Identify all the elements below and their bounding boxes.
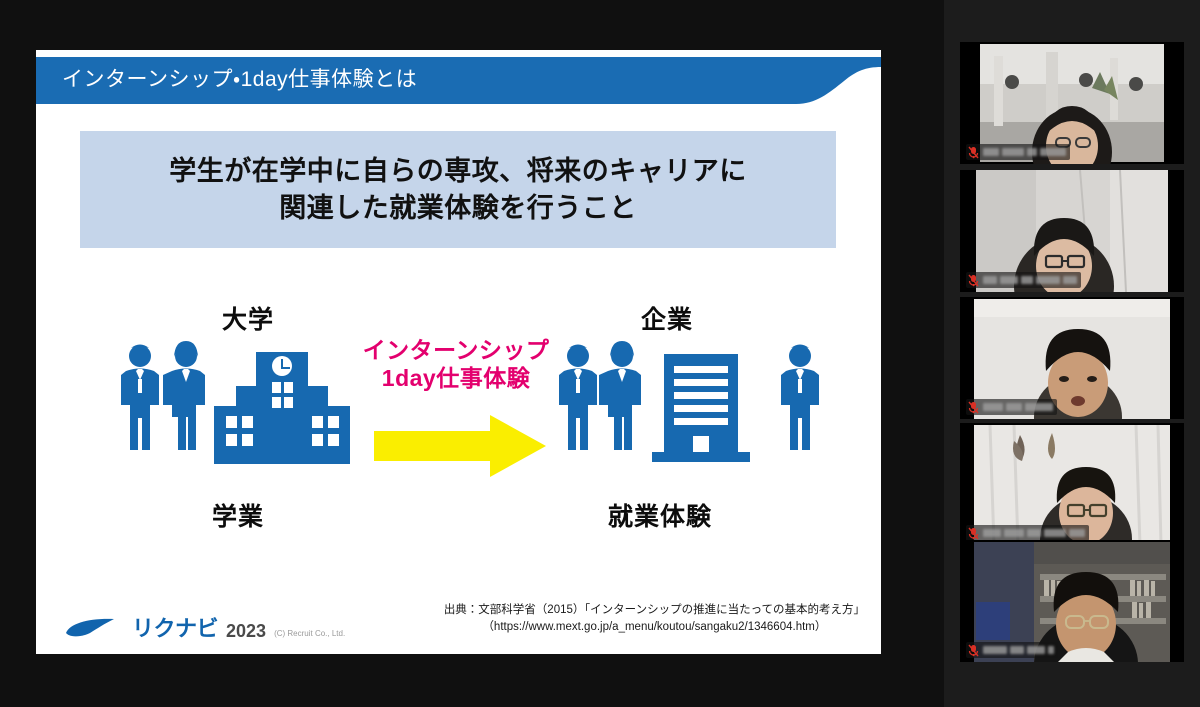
logo-year: 2023 bbox=[226, 622, 266, 640]
definition-text: 学生が在学中に自らの専攻、将来のキャリアに 関連した就業体験を行うこと bbox=[169, 153, 747, 225]
participant-tile-4[interactable] bbox=[960, 423, 1184, 545]
rikunabi-swoosh-icon bbox=[64, 616, 124, 640]
participant-tile-2[interactable] bbox=[960, 170, 1184, 292]
participant-name-1 bbox=[983, 148, 1066, 156]
university-icon-group bbox=[106, 338, 396, 488]
label-university: 大学 bbox=[222, 300, 274, 336]
label-company: 企業 bbox=[641, 300, 693, 336]
internship-flow-diagram: 大学 学業 企業 就業体験 インターンシップ 1day仕事体験 bbox=[36, 290, 881, 580]
source-citation: 出典：文部科学省（2015）「インターンシップの推進に当たっての基本的考え方」 … bbox=[444, 602, 865, 637]
mic-muted-icon bbox=[968, 274, 979, 287]
participant-tile-3[interactable] bbox=[960, 297, 1184, 419]
mic-muted-icon bbox=[968, 146, 979, 159]
definition-box: 学生が在学中に自らの専攻、将来のキャリアに 関連した就業体験を行うこと bbox=[80, 131, 836, 248]
label-work-experience: 就業体験 bbox=[608, 497, 712, 533]
page-title: インターンシップ・1day仕事体験とは bbox=[62, 63, 417, 93]
flow-arrow-icon bbox=[374, 415, 546, 477]
mic-muted-icon bbox=[968, 401, 979, 414]
zoom-meeting-window: インターンシップ・1day仕事体験とは 学生が在学中に自らの専攻、将来のキャリア… bbox=[0, 0, 1200, 707]
presentation-slide: インターンシップ・1day仕事体験とは 学生が在学中に自らの専攻、将来のキャリア… bbox=[36, 50, 881, 654]
participant-name-bar-5 bbox=[966, 642, 1058, 658]
screen-share-stage[interactable]: インターンシップ・1day仕事体験とは 学生が在学中に自らの専攻、将来のキャリア… bbox=[0, 0, 944, 707]
rikunabi-logo: リクナビ 2023 (C) Recruit Co., Ltd. bbox=[64, 616, 345, 640]
logo-wordmark: リクナビ bbox=[132, 618, 218, 640]
participant-name-2 bbox=[983, 276, 1077, 284]
mic-muted-icon bbox=[968, 527, 979, 540]
participant-filmstrip[interactable] bbox=[944, 0, 1200, 707]
company-icon-group bbox=[544, 338, 834, 488]
label-academic-study: 学業 bbox=[212, 497, 264, 533]
mic-muted-icon bbox=[968, 644, 979, 657]
participant-tile-5[interactable] bbox=[960, 540, 1184, 662]
participant-name-3 bbox=[983, 403, 1053, 411]
participant-tile-1[interactable] bbox=[960, 42, 1184, 164]
participant-name-bar-2 bbox=[966, 272, 1081, 288]
copyright-text: (C) Recruit Co., Ltd. bbox=[274, 630, 345, 640]
participant-name-bar-4 bbox=[966, 525, 1089, 541]
participant-name-bar-3 bbox=[966, 399, 1057, 415]
participant-name-4 bbox=[983, 529, 1085, 537]
participant-name-5 bbox=[983, 646, 1054, 654]
participant-name-bar-1 bbox=[966, 144, 1070, 160]
